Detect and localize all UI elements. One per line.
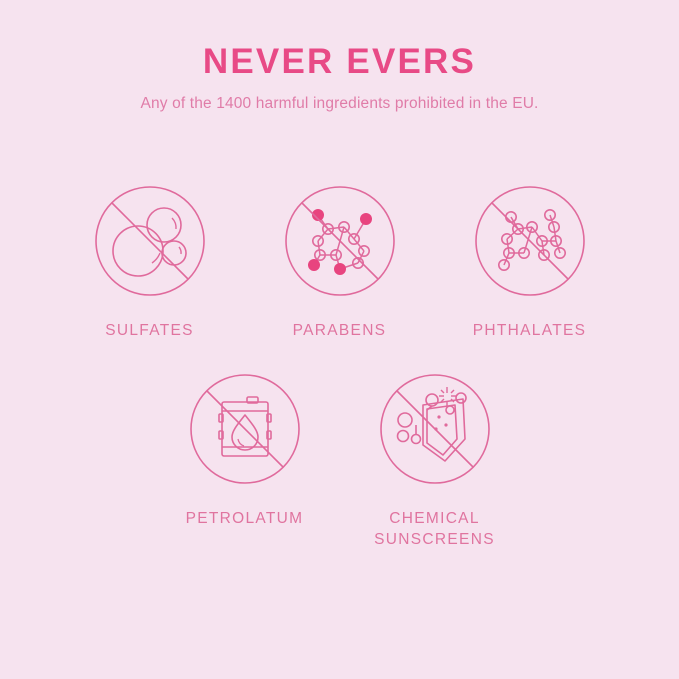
- ingredient-grid: SULFATES: [0, 185, 679, 550]
- chemical-sunscreens-shield-icon: [379, 373, 491, 485]
- grid-item-label: CHEMICAL SUNSCREENS: [374, 509, 495, 550]
- header: NEVER EVERS Any of the 1400 harmful ingr…: [0, 44, 679, 113]
- petrolatum-barrel-icon: [189, 373, 301, 485]
- grid-item-chemical-sunscreens: CHEMICAL SUNSCREENS: [379, 373, 491, 550]
- grid-item-label: PETROLATUM: [186, 509, 304, 529]
- grid-item-sulfates: SULFATES: [94, 185, 206, 341]
- grid-item-phthalates: PHTHALATES: [474, 185, 586, 341]
- never-evers-infographic: NEVER EVERS Any of the 1400 harmful ingr…: [0, 0, 679, 679]
- grid-item-parabens: PARABENS: [284, 185, 396, 341]
- sulfates-bubbles-icon: [94, 185, 206, 297]
- grid-row-2: PETROLATUM: [0, 373, 679, 550]
- page-title: NEVER EVERS: [0, 44, 679, 81]
- phthalates-molecule-icon: [474, 185, 586, 297]
- grid-item-label: PHTHALATES: [473, 321, 587, 341]
- parabens-molecule-icon: [284, 185, 396, 297]
- grid-item-label: PARABENS: [293, 321, 387, 341]
- page-subtitle: Any of the 1400 harmful ingredients proh…: [0, 95, 679, 114]
- grid-item-petrolatum: PETROLATUM: [189, 373, 301, 529]
- grid-row-1: SULFATES: [0, 185, 679, 341]
- grid-item-label: SULFATES: [105, 321, 194, 341]
